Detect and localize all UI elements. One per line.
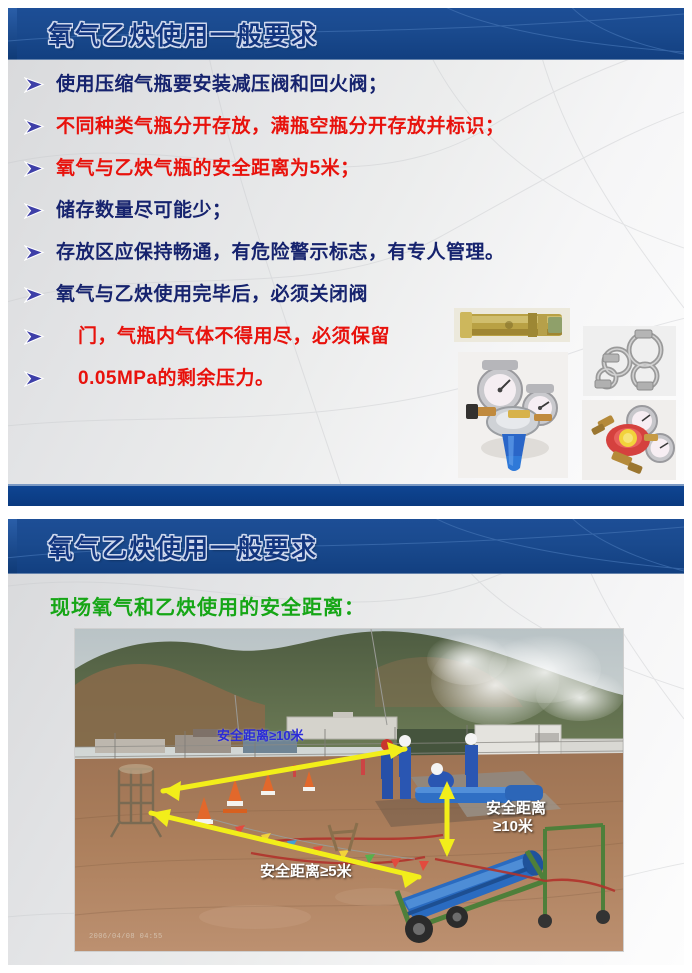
- acetylene-regulator-photo: [582, 400, 676, 480]
- slide-1-title-band: 氧气乙炔使用一般要求: [8, 8, 684, 60]
- chevron-arrow-bullet-icon: [22, 154, 56, 184]
- chevron-arrow-bullet-icon: [22, 280, 56, 310]
- slide-1-title: 氧气乙炔使用一般要求: [48, 16, 318, 52]
- site-safety-distance-photo: 安全距离≥10米 安全距离 ≥10米 安全距离≥5米 2006/04/08 04…: [75, 629, 623, 951]
- bullet-item-5: 存放区应保持畅通，有危险警示标志，有专人管理。: [22, 238, 674, 276]
- footer-bar-highlight: [8, 484, 684, 486]
- slide-2: 氧气乙炔使用一般要求 现场氧气和乙炔使用的安全距离：: [8, 519, 684, 965]
- bullet-label: 不同种类气瓶分开存放，满瓶空瓶分开存放并标识；: [56, 112, 505, 142]
- chevron-arrow-bullet-icon: [22, 196, 56, 226]
- chevron-arrow-bullet-icon: [22, 112, 56, 142]
- slide-2-heading: 现场氧气和乙炔使用的安全距离：: [50, 591, 365, 620]
- flashback-arrestor-photo: [454, 308, 570, 342]
- title-band-accent-strip: [8, 8, 17, 60]
- chevron-arrow-bullet-icon: [22, 70, 56, 100]
- anno-top-blue: 安全距离≥10米: [217, 725, 304, 744]
- anno-bottom-distance: 安全距离≥5米: [260, 860, 352, 881]
- title-band-hairline: [8, 573, 684, 574]
- bullet-item-4: 储存数量尽可能少；: [22, 196, 674, 234]
- bullet-label: 氧气与乙炔气瓶的安全距离为5米；: [56, 154, 360, 184]
- bullet-label: 使用压缩气瓶要安装减压阀和回火阀；: [56, 70, 388, 100]
- presentation-page: 氧气乙炔使用一般要求 使用压缩气瓶要安装减压阀和回火阀； 不同种: [0, 0, 692, 973]
- title-band-hairline: [8, 59, 684, 60]
- slide-1-footer-bar: [8, 484, 684, 506]
- slide-2-title: 氧气乙炔使用一般要求: [48, 529, 318, 565]
- equipment-photo-cluster: [454, 308, 676, 480]
- chevron-arrow-bullet-icon: [22, 364, 56, 394]
- oxygen-regulator-photo: [458, 352, 568, 478]
- chevron-arrow-bullet-icon: [22, 238, 56, 268]
- title-band-accent-strip: [8, 519, 17, 574]
- site-photo-graphic: [75, 629, 623, 951]
- slide-2-title-band: 氧气乙炔使用一般要求: [8, 519, 684, 574]
- bullet-label: 储存数量尽可能少；: [56, 196, 232, 226]
- bullet-item-3: 氧气与乙炔气瓶的安全距离为5米；: [22, 154, 674, 192]
- bullet-label: 氧气与乙炔使用完毕后，必须关闭阀: [56, 280, 368, 310]
- bullet-label: 0.05MPa的剩余压力。: [56, 364, 275, 394]
- bullet-item-2: 不同种类气瓶分开存放，满瓶空瓶分开存放并标识；: [22, 112, 674, 150]
- chevron-arrow-bullet-icon: [22, 322, 56, 352]
- anno-right-line-2: ≥10米: [493, 815, 533, 836]
- bullet-label: 门，气瓶内气体不得用尽，必须保留: [56, 322, 390, 352]
- bullet-item-1: 使用压缩气瓶要安装减压阀和回火阀；: [22, 70, 674, 108]
- hose-clamps-photo: [583, 326, 676, 396]
- photo-timestamp: 2006/04/08 04:55: [89, 933, 163, 941]
- bullet-label: 存放区应保持畅通，有危险警示标志，有专人管理。: [56, 238, 505, 268]
- slide-1: 氧气乙炔使用一般要求 使用压缩气瓶要安装减压阀和回火阀； 不同种: [8, 8, 684, 506]
